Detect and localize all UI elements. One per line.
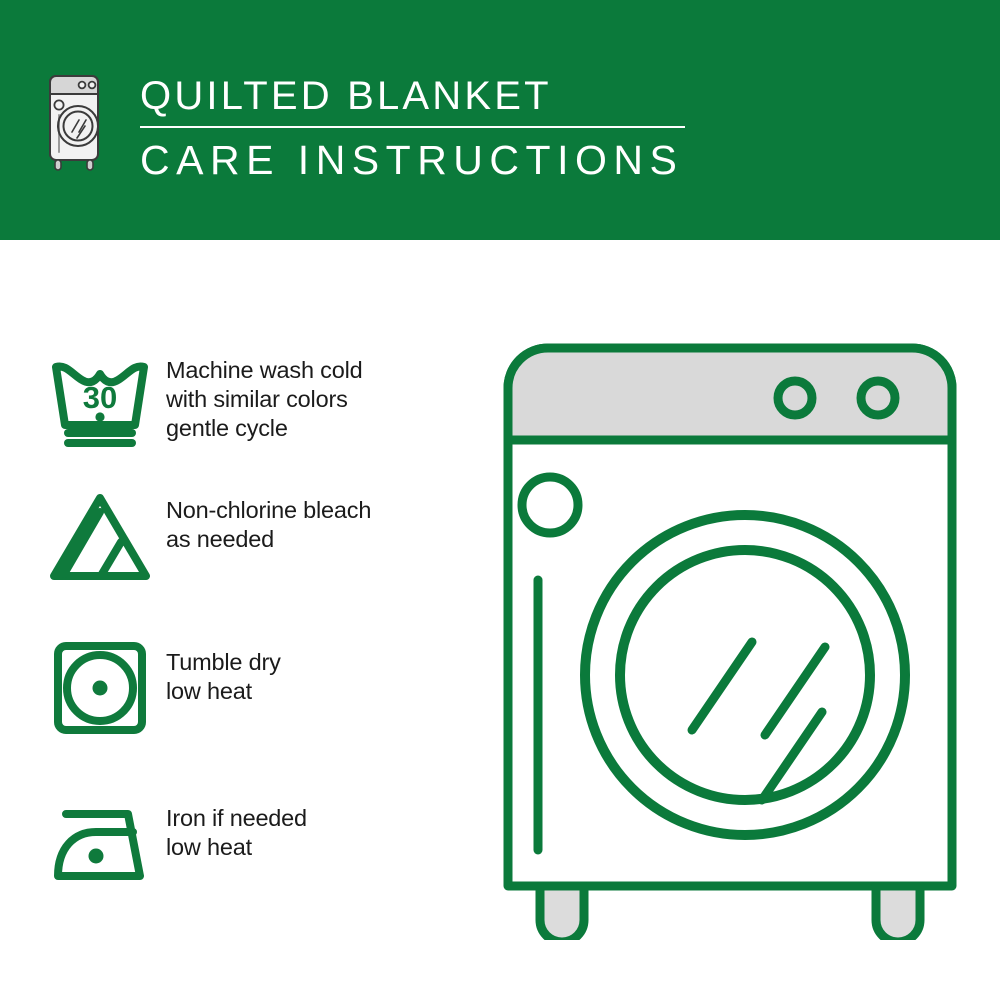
care-instruction-text-iron: Iron if needed low heat xyxy=(166,788,307,862)
instruction-line: Tumble dry xyxy=(166,648,281,677)
wash-tub-30-gentle-icon: 30 xyxy=(44,340,156,452)
washer-leg-left xyxy=(540,886,584,940)
header-banner: QUILTED BLANKET CARE INSTRUCTIONS xyxy=(0,0,1000,240)
page-title-product: QUILTED BLANKET xyxy=(140,72,760,120)
non-chlorine-bleach-triangle-icon xyxy=(44,480,156,592)
care-instruction-item-bleach: Non-chlorine bleach as needed xyxy=(0,480,480,592)
care-instruction-text-bleach: Non-chlorine bleach as needed xyxy=(166,480,371,554)
front-load-washing-machine-illustration xyxy=(490,330,970,940)
instruction-line: as needed xyxy=(166,525,371,554)
washing-machine-icon xyxy=(45,68,107,173)
wash-temperature-label: 30 xyxy=(83,380,117,415)
instruction-line: low heat xyxy=(166,833,307,862)
care-instruction-text-wash: Machine wash cold with similar colors ge… xyxy=(166,340,362,443)
page-title-care: CARE INSTRUCTIONS xyxy=(140,136,760,184)
instruction-line: Iron if needed xyxy=(166,804,307,833)
care-instruction-item-wash: 30 Machine wash cold with similar colors… xyxy=(0,340,480,452)
care-instruction-list: 30 Machine wash cold with similar colors… xyxy=(0,240,480,1000)
care-instruction-text-dry: Tumble dry low heat xyxy=(166,632,281,706)
title-divider xyxy=(140,126,685,128)
care-instructions-page: QUILTED BLANKET CARE INSTRUCTIONS 30 xyxy=(0,0,1000,1000)
care-instruction-item-dry: Tumble dry low heat xyxy=(0,632,480,744)
care-instruction-item-iron: Iron if needed low heat xyxy=(0,788,480,900)
instruction-line: Machine wash cold xyxy=(166,356,362,385)
iron-low-heat-icon xyxy=(44,788,156,900)
instruction-line: gentle cycle xyxy=(166,414,362,443)
instruction-line: with similar colors xyxy=(166,385,362,414)
instruction-line: low heat xyxy=(166,677,281,706)
header-title-group: QUILTED BLANKET CARE INSTRUCTIONS xyxy=(140,72,760,184)
washer-leg-right xyxy=(876,886,920,940)
tumble-dry-low-heat-icon xyxy=(44,632,156,744)
instruction-line: Non-chlorine bleach xyxy=(166,496,371,525)
